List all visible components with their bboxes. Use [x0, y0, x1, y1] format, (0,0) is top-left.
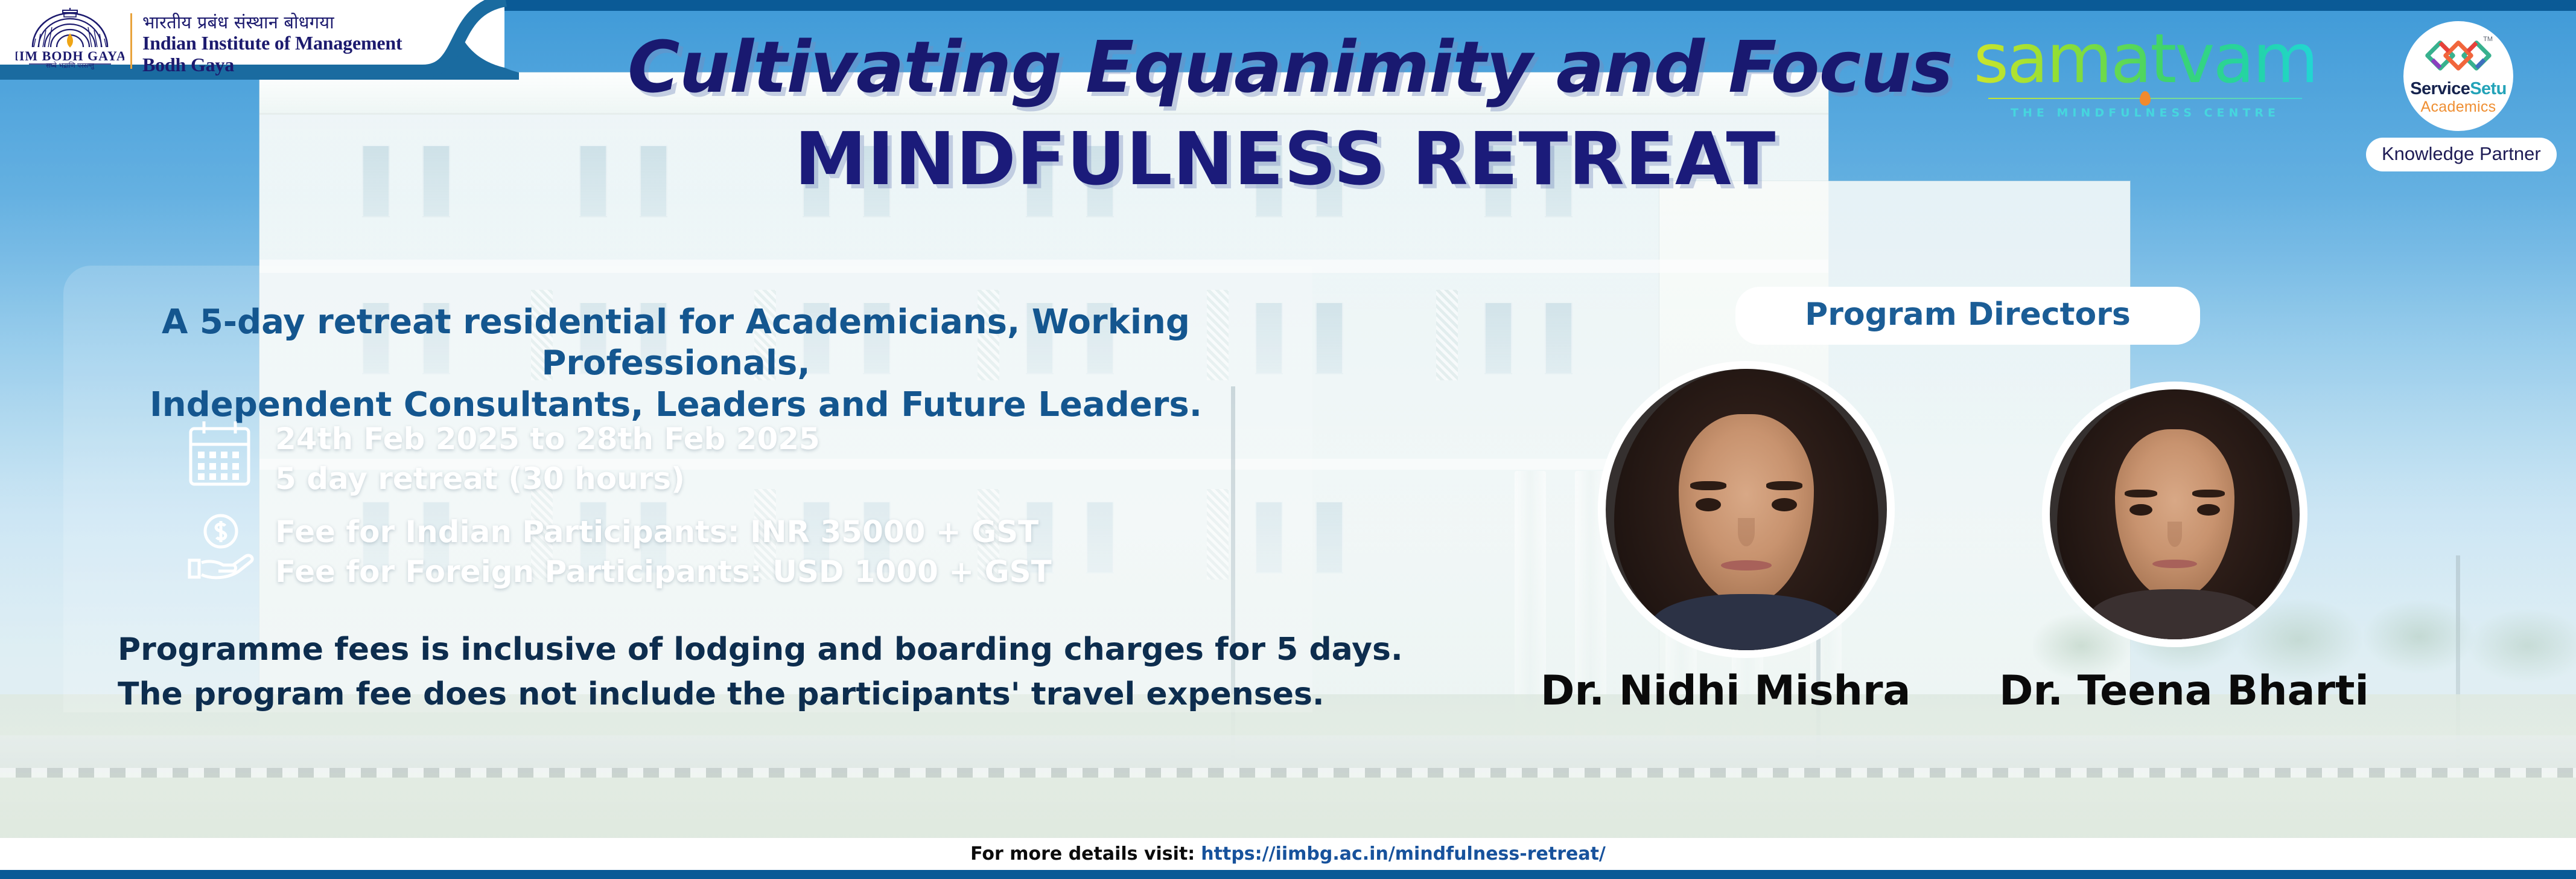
banner-title: MINDFULNESS RETREAT [628, 124, 1943, 196]
eye-left [1696, 498, 1721, 511]
samatvam-rule [1988, 98, 2302, 99]
interlocking-diamonds-icon: TM [2425, 39, 2492, 75]
mindfulness-retreat-banner: IIM BODH GAYA सब्बे भद्राणि पस्सन्तु भार… [0, 0, 2576, 879]
footer-url-link[interactable]: https://iimbg.ac.in/mindfulness-retreat/ [1201, 843, 1606, 865]
eye-right [1772, 498, 1797, 511]
footer-accent-bar [0, 870, 2576, 879]
institute-name-block: भारतीय प्रबंध संस्थान बोधगया Indian Inst… [142, 12, 396, 76]
fee-note-line-1: Programme fees is inclusive of lodging a… [118, 628, 1403, 673]
institute-name-english-line1: Indian Institute of Management [142, 33, 396, 54]
lead-paragraph: A 5-day retreat residential for Academic… [78, 302, 1273, 426]
nose-shape [1738, 518, 1755, 546]
servicesetu-name-part1: Service [2410, 79, 2470, 98]
fee-note: Programme fees is inclusive of lodging a… [118, 628, 1403, 717]
eyebrow-right [2192, 490, 2225, 497]
dates-line-2: 5 day retreat (30 hours) [275, 459, 820, 499]
fees-line-2: Fee for Foreign Participants: USD 1000 +… [275, 552, 1052, 592]
director-name-2: Dr. Teena Bharti [1999, 667, 2369, 715]
fees-text: Fee for Indian Participants: INR 35000 +… [275, 508, 1052, 592]
servicesetu-logo: TM ServiceSetu Academics [2403, 21, 2513, 131]
iim-bodh-gaya-logo: IIM BODH GAYA सब्बे भद्राणि पस्सन्तु [16, 7, 124, 71]
shoulders-shape [1651, 594, 1842, 658]
dates-line-1: 24th Feb 2025 to 28th Feb 2025 [275, 419, 820, 459]
calendar-icon [181, 415, 258, 493]
dates-info-row: 24th Feb 2025 to 28th Feb 2025 5 day ret… [181, 415, 820, 499]
banner-subtitle: Cultivating Equanimity and Focus [628, 31, 1943, 103]
knowledge-partner-badge: Knowledge Partner [2366, 138, 2557, 171]
servicesetu-wordmark: ServiceSetu [2410, 79, 2506, 99]
samatvam-logo: samatvam THE MINDFULNESS CENTRE [1958, 24, 2332, 139]
mouth-shape [1721, 560, 1772, 571]
eyebrow-right [1766, 481, 1803, 490]
footer-text: For more details visit:https://iimbg.ac.… [970, 843, 1606, 865]
header-divider [130, 13, 132, 69]
eyebrow-left [1690, 481, 1727, 490]
institute-name-hindi: भारतीय प्रबंध संस्थान बोधगया [142, 12, 396, 33]
background-road [0, 735, 2576, 773]
lead-line-1: A 5-day retreat residential for Academic… [78, 302, 1273, 385]
portrait-illustration [2050, 389, 2300, 639]
footer-strip: For more details visit:https://iimbg.ac.… [0, 838, 2576, 870]
fees-info-row: Fee for Indian Participants: INR 35000 +… [181, 508, 1052, 592]
avatar-director-1 [1598, 361, 1895, 658]
servicesetu-name-part2: Setu [2470, 79, 2506, 98]
trademark-symbol: TM [2483, 36, 2493, 43]
fees-line-1: Fee for Indian Participants: INR 35000 +… [275, 512, 1052, 552]
stupa-arch-icon [33, 8, 107, 47]
footer-prefix: For more details visit: [970, 843, 1195, 865]
dates-text: 24th Feb 2025 to 28th Feb 2025 5 day ret… [275, 415, 820, 499]
samatvam-tagline: THE MINDFULNESS CENTRE [1958, 106, 2332, 120]
hand-holding-coin-icon [181, 508, 258, 586]
program-directors-heading: Program Directors [1735, 287, 2200, 345]
portrait-illustration [1606, 369, 1887, 650]
avatar-director-2 [2042, 382, 2307, 647]
servicesetu-subtitle: Academics [2421, 98, 2496, 116]
shoulders-shape [2090, 589, 2260, 647]
samatvam-wordmark: samatvam [1958, 24, 2332, 95]
fee-note-line-2: The program fee does not include the par… [118, 673, 1403, 717]
leaf-icon [2140, 91, 2151, 106]
nose-shape [2167, 522, 2183, 546]
logo-motto-text: सब्बे भद्राणि पस्सन्तु [46, 62, 95, 69]
background-kerb-stripes [0, 768, 2576, 778]
eyebrow-left [2125, 490, 2157, 497]
director-name-1: Dr. Nidhi Mishra [1541, 667, 1910, 715]
institute-name-english-line2: Bodh Gaya [142, 54, 396, 76]
